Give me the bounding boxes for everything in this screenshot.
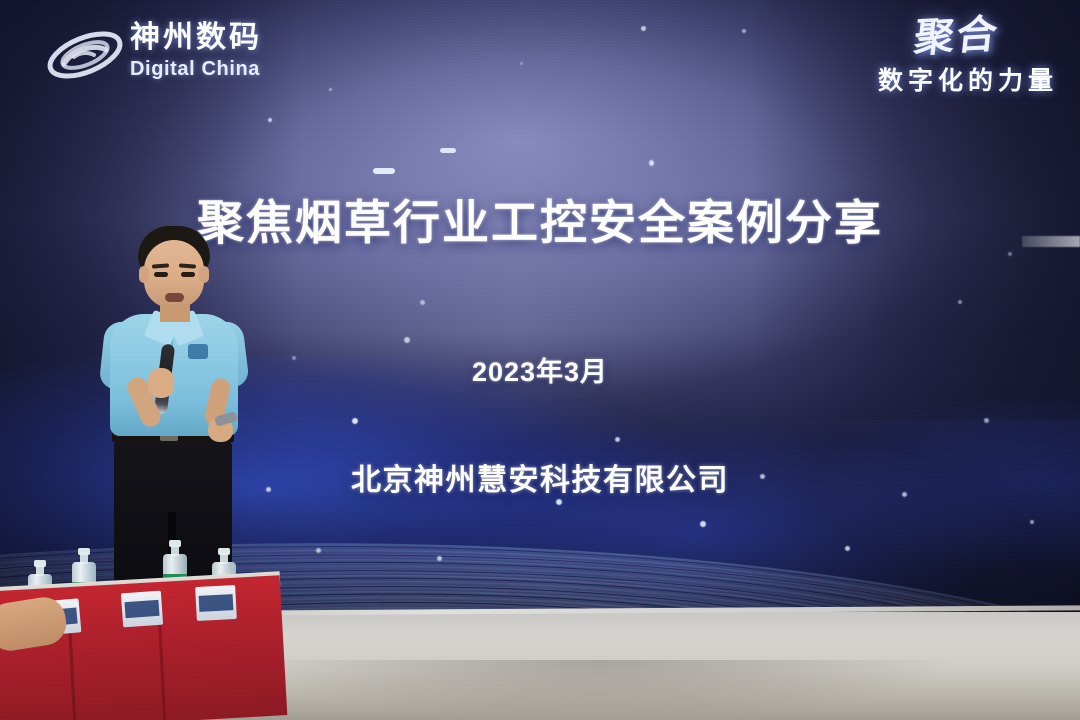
speaker-eye-right: [181, 272, 195, 277]
speaker-ear-left: [139, 266, 149, 283]
speaker-chest-logo-icon: [188, 344, 208, 359]
name-card: [121, 591, 163, 628]
slogan-sub-text: 数字化的力量: [782, 64, 1058, 98]
logo-english-name: Digital China: [130, 56, 312, 82]
digital-china-logo: 神州数码 Digital China: [44, 20, 312, 92]
conference-stage-photo: 神州数码 Digital China 聚合 数字化的力量 聚焦烟草行业工控安全案…: [0, 0, 1080, 720]
slogan-brush-text: 聚合: [779, 12, 1001, 67]
stage-floor-shadow: [250, 660, 950, 720]
speaker-hand-left: [148, 368, 174, 398]
speaker-mouth: [165, 293, 184, 302]
speaker-ear-right: [199, 266, 209, 283]
event-slogan: 聚合 数字化的力量: [782, 18, 1062, 118]
name-card: [195, 585, 237, 621]
logo-chinese-name: 神州数码: [130, 20, 312, 56]
speaker-eye-left: [154, 272, 168, 277]
spiral-galaxy-logo-icon: [44, 24, 126, 86]
